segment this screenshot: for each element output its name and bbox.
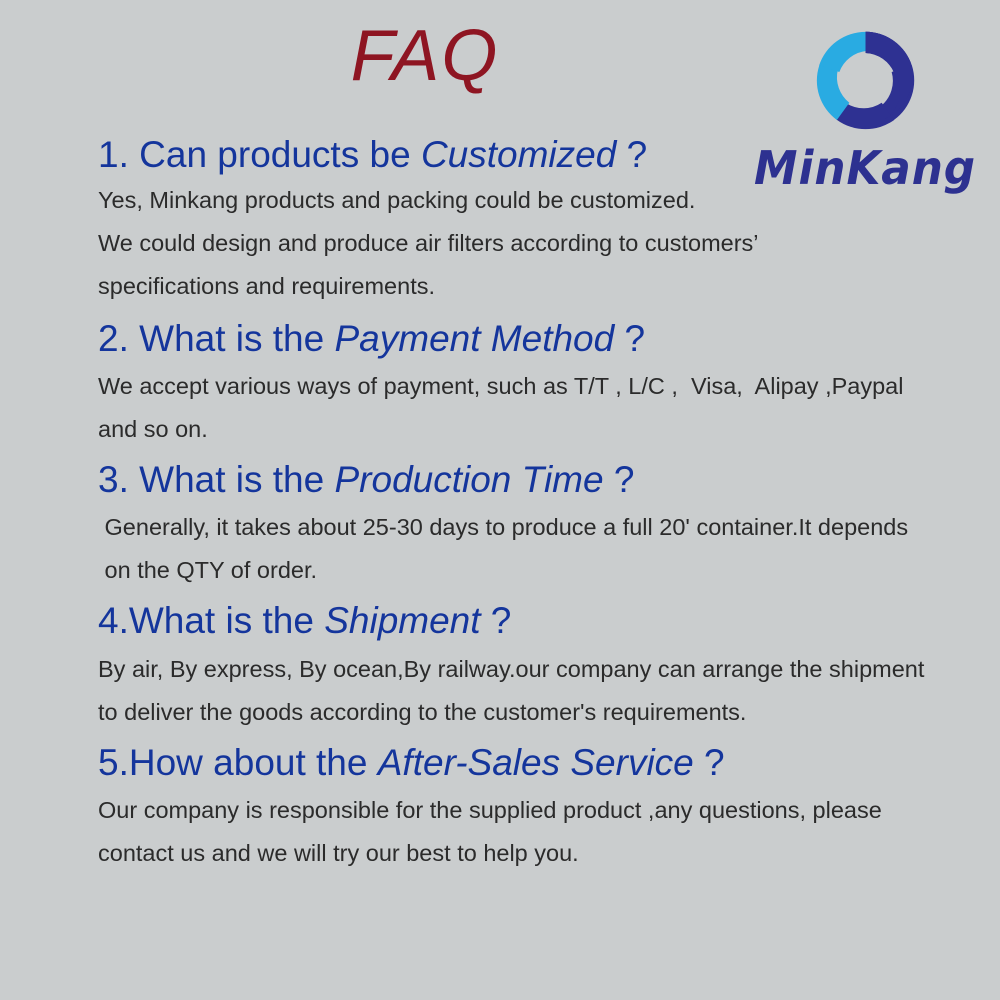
faq-question-tail: ? <box>481 600 512 641</box>
faq-answer: Generally, it takes about 25-30 days to … <box>98 506 960 592</box>
page-header: FAQ <box>0 0 1000 120</box>
faq-question-lead: What is the <box>139 459 334 500</box>
faq-question-emphasis: After-Sales Service <box>378 742 694 783</box>
faq-question: 4.What is the Shipment ? <box>98 598 960 643</box>
faq-question-tail: ? <box>614 318 645 359</box>
faq-question-tail: ? <box>604 459 635 500</box>
faq-question-lead: How about the <box>129 742 378 783</box>
faq-question-tail: ? <box>616 134 647 175</box>
faq-list: 1. Can products be Customized ? Yes, Min… <box>98 132 960 881</box>
faq-question-emphasis: Shipment <box>324 600 480 641</box>
faq-question-lead: Can products be <box>139 134 421 175</box>
faq-answer: Our company is responsible for the suppl… <box>98 789 960 875</box>
faq-question-tail: ? <box>694 742 725 783</box>
faq-answer: By air, By express, By ocean,By railway.… <box>98 648 960 734</box>
faq-item: 3. What is the Production Time ? General… <box>98 457 960 592</box>
faq-question-lead: What is the <box>129 600 324 641</box>
faq-question-emphasis: Customized <box>421 134 616 175</box>
faq-question-number: 5. <box>98 742 129 783</box>
faq-answer: Yes, Minkang products and packing could … <box>98 179 960 308</box>
faq-question-emphasis: Payment Method <box>335 318 615 359</box>
faq-question-number: 3. <box>98 459 139 500</box>
faq-question-number: 2. <box>98 318 139 359</box>
faq-answer: We accept various ways of payment, such … <box>98 365 960 451</box>
faq-question-number: 4. <box>98 600 129 641</box>
faq-page: FAQ <box>0 0 1000 1000</box>
faq-question: 3. What is the Production Time ? <box>98 457 960 502</box>
minkang-swirl-logo-icon <box>803 18 928 143</box>
faq-item: 1. Can products be Customized ? Yes, Min… <box>98 132 960 308</box>
faq-question-number: 1. <box>98 134 139 175</box>
faq-question: 1. Can products be Customized ? <box>98 132 960 177</box>
faq-item: 2. What is the Payment Method ? We accep… <box>98 316 960 451</box>
faq-question-lead: What is the <box>139 318 334 359</box>
faq-question: 5.How about the After-Sales Service ? <box>98 740 960 785</box>
faq-item: 5.How about the After-Sales Service ? Ou… <box>98 740 960 875</box>
faq-item: 4.What is the Shipment ? By air, By expr… <box>98 598 960 733</box>
faq-question: 2. What is the Payment Method ? <box>98 316 960 361</box>
faq-question-emphasis: Production Time <box>335 459 604 500</box>
